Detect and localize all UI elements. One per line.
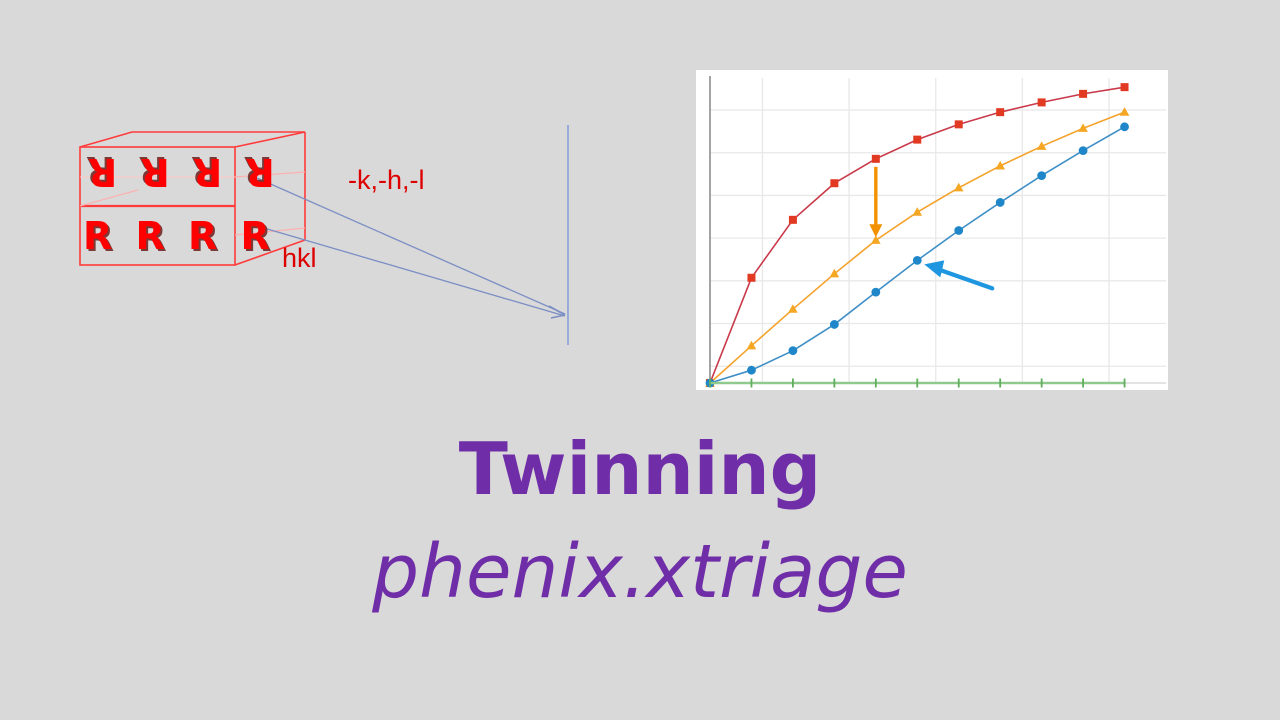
marker-perfectly-twinned-5 [913, 256, 922, 265]
marker-untwinned-1 [747, 274, 755, 282]
marker-untwinned-5 [913, 136, 921, 144]
chart-plot-background [696, 70, 1168, 390]
crystal-letters-bottom-domain: R R R R [83, 217, 275, 255]
marker-perfectly-twinned-6 [954, 226, 963, 235]
slide-canvas: R R R R R R R R hkl -k,-h,-l Twinning ph… [0, 0, 1280, 720]
marker-untwinned-4 [872, 155, 880, 163]
marker-perfectly-twinned-2 [789, 346, 798, 355]
marker-untwinned-8 [1038, 98, 1046, 106]
marker-untwinned-3 [830, 179, 838, 187]
slide-subtitle: phenix.xtriage [0, 534, 1280, 612]
marker-untwinned-7 [996, 108, 1004, 116]
marker-perfectly-twinned-1 [747, 366, 756, 375]
twinned-crystal-diagram: R R R R R R R R hkl -k,-h,-l [60, 125, 580, 345]
chart-svg [696, 70, 1168, 390]
crystal-letters-top-domain: R R R R [83, 153, 275, 191]
marker-untwinned-9 [1079, 90, 1087, 98]
marker-untwinned-2 [789, 216, 797, 224]
marker-perfectly-twinned-8 [1037, 171, 1046, 180]
marker-perfectly-twinned-4 [871, 288, 880, 297]
intensity-statistics-chart [696, 70, 1168, 390]
marker-perfectly-twinned-9 [1079, 146, 1088, 155]
marker-untwinned-10 [1121, 83, 1129, 91]
box-edge-tl [80, 132, 132, 147]
marker-perfectly-twinned-7 [996, 198, 1005, 207]
marker-perfectly-twinned-3 [830, 320, 839, 329]
box-edge-tr [235, 132, 305, 147]
marker-untwinned-6 [955, 120, 963, 128]
label-twin-operator: -k,-h,-l [348, 165, 425, 196]
slide-title: Twinning [0, 432, 1280, 508]
label-hkl: hkl [282, 243, 317, 274]
marker-perfectly-twinned-10 [1120, 122, 1129, 131]
